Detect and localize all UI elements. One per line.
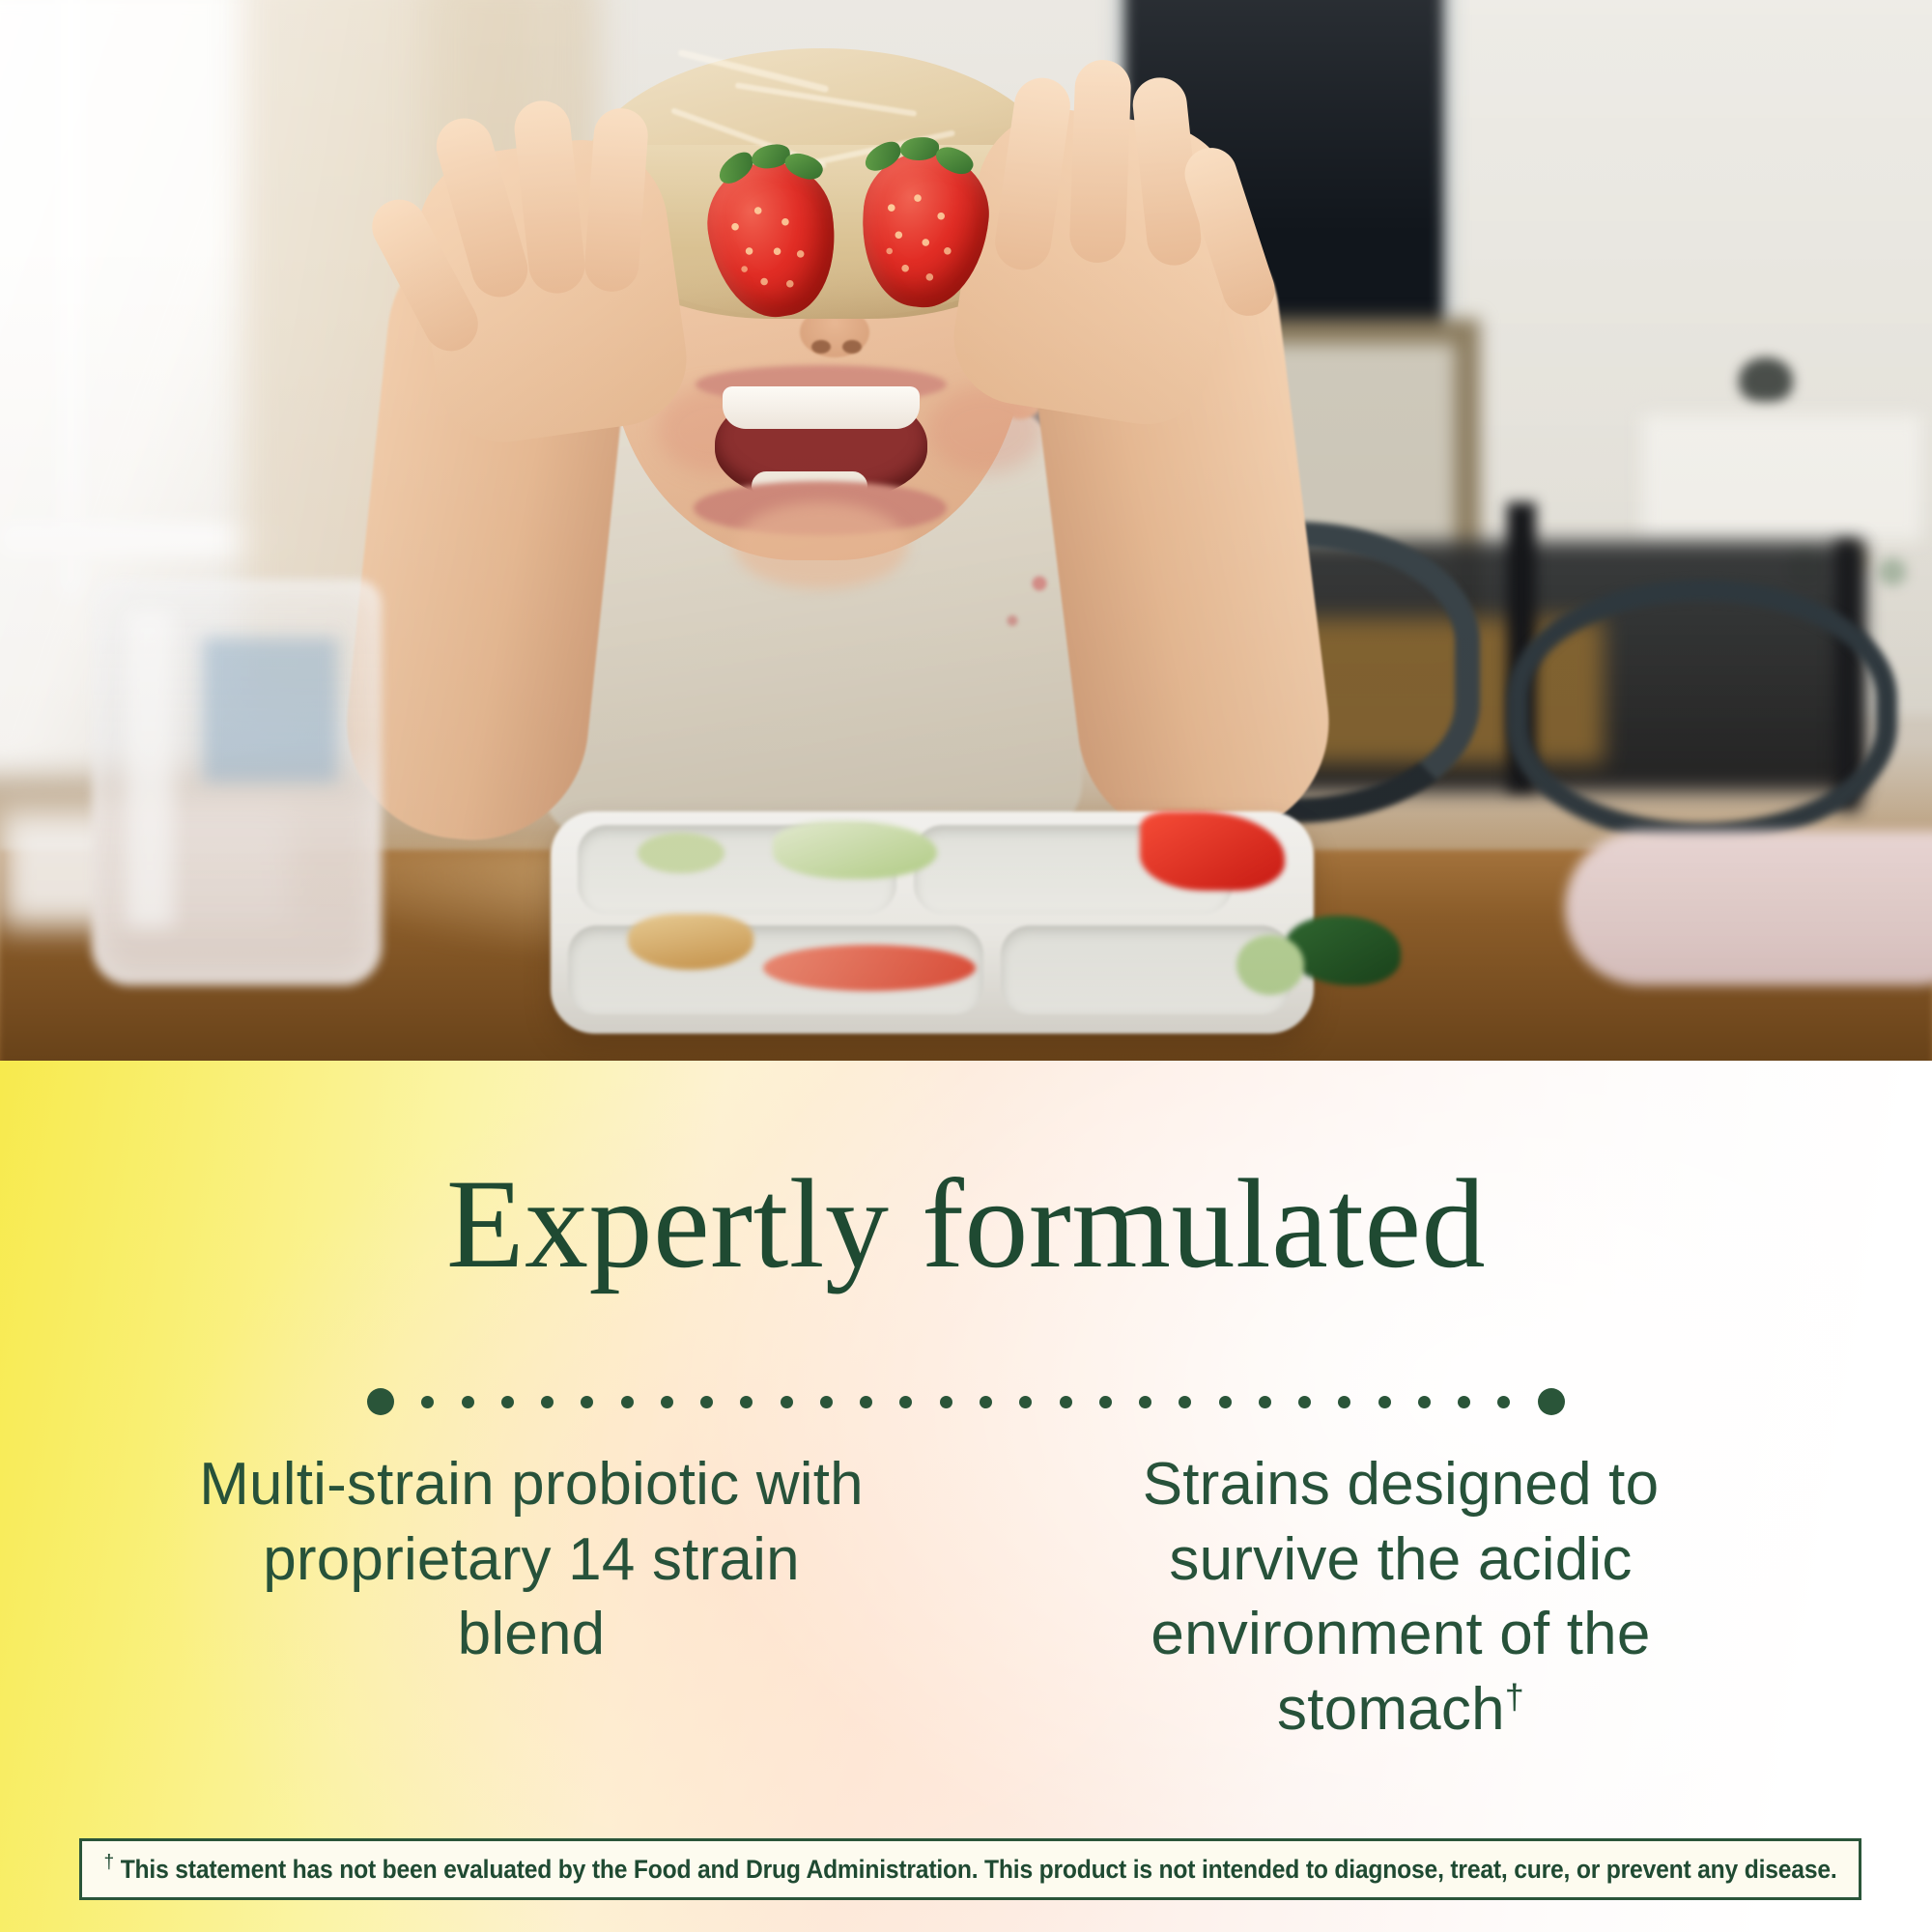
divider-dot [1338,1396,1350,1408]
divider-dot [820,1396,833,1408]
divider-dot [781,1396,793,1408]
divider-dot [462,1396,474,1408]
divider-dot [700,1396,713,1408]
divider-dot [980,1396,992,1408]
divider-dot [1497,1396,1510,1408]
footnote-marker: † [1505,1676,1524,1716]
photo-vignette [0,0,1932,1061]
divider-dot [1060,1396,1072,1408]
divider-dot [661,1396,673,1408]
benefit-acid-survival-text: Strains designed to survive the acidic e… [1143,1451,1660,1743]
lifestyle-photo [0,0,1932,1061]
divider-dot [501,1396,514,1408]
divider-dot [1019,1396,1032,1408]
benefit-acid-survival: Strains designed to survive the acidic e… [1063,1447,1739,1747]
divider-dot [621,1396,634,1408]
disclaimer-marker: † [104,1851,115,1873]
divider-dot [1099,1396,1112,1408]
divider-dot [1298,1396,1311,1408]
promo-graphic: Expertly formulated Multi-strain pr [0,0,1932,1932]
divider-end-dot [367,1388,394,1415]
benefit-multi-strain: Multi-strain probiotic with proprietary … [193,1447,869,1747]
divider-dot [740,1396,753,1408]
divider-end-dot [1538,1388,1565,1415]
divider-dot [421,1396,434,1408]
divider-dot [860,1396,872,1408]
divider-dot [541,1396,554,1408]
fda-disclaimer-box: † This statement has not been evaluated … [79,1838,1861,1900]
divider-dot [581,1396,593,1408]
fda-disclaimer-text: † This statement has not been evaluated … [104,1855,1837,1885]
dotted-divider [367,1387,1565,1416]
divider-dot [1179,1396,1191,1408]
benefits-row: Multi-strain probiotic with proprietary … [0,1447,1932,1747]
divider-dot [1418,1396,1431,1408]
page-title: Expertly formulated [0,1155,1932,1293]
divider-dot [1219,1396,1232,1408]
divider-dot [1458,1396,1470,1408]
divider-dot [899,1396,912,1408]
divider-dot [1259,1396,1271,1408]
divider-dot [940,1396,952,1408]
divider-dot [1378,1396,1391,1408]
divider-dot [1139,1396,1151,1408]
disclaimer-body: This statement has not been evaluated by… [121,1855,1837,1884]
